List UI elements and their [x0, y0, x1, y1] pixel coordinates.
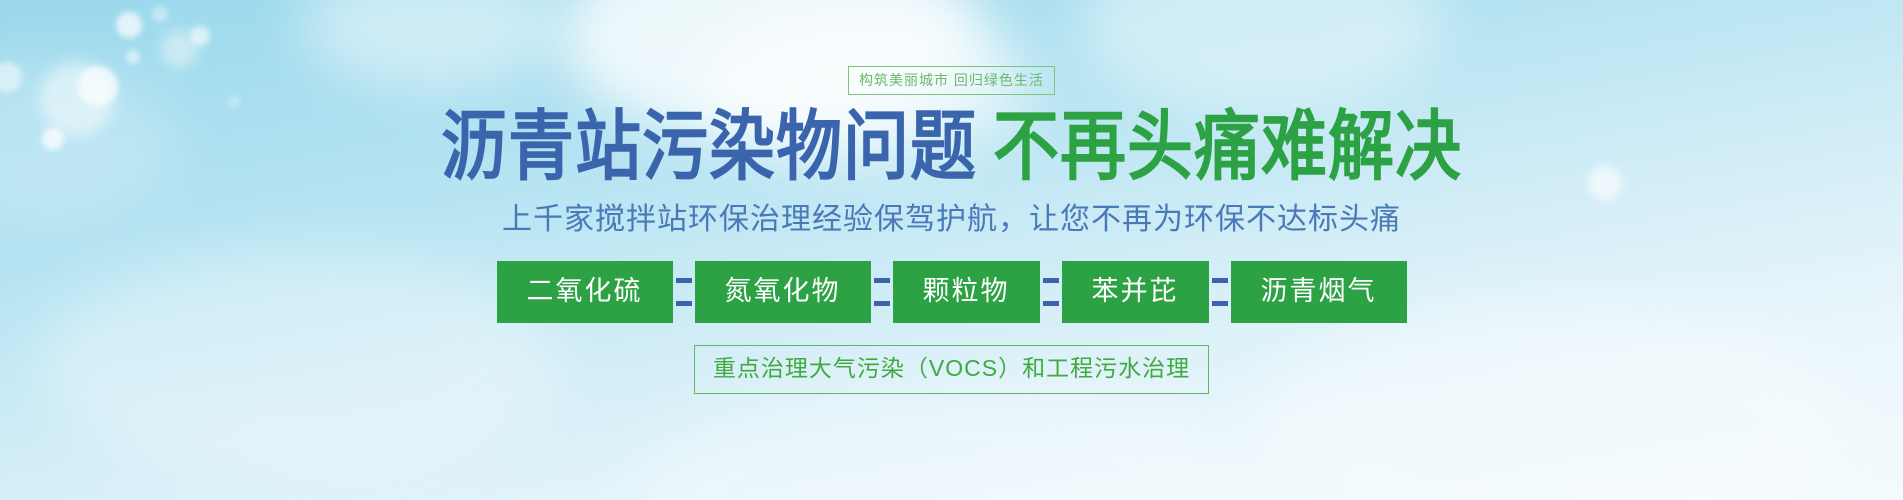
banner-content: 构筑美丽城市 回归绿色生活 沥青站污染物问题不再头痛难解决 上千家搅拌站环保治理…: [0, 0, 1903, 500]
dash-icon: [676, 301, 692, 306]
pollutant-tag[interactable]: 沥青烟气: [1231, 261, 1407, 323]
dash-icon: [874, 301, 890, 306]
headline-blue-part: 沥青站污染物问题: [441, 102, 977, 191]
dash-icon: [874, 278, 890, 283]
pollutant-tag-row: 二氧化硫 氮氧化物 颗粒物 苯并芘 沥青烟气: [497, 261, 1407, 323]
pollutant-tag[interactable]: 苯并芘: [1062, 261, 1209, 323]
dash-icon: [1212, 301, 1228, 306]
pollutant-tag[interactable]: 氮氧化物: [695, 261, 871, 323]
tag-separator: [1209, 261, 1231, 323]
dash-icon: [1043, 301, 1059, 306]
focus-note: 重点治理大气污染（VOCS）和工程污水治理: [694, 345, 1209, 394]
dash-icon: [1043, 278, 1059, 283]
promo-banner: 构筑美丽城市 回归绿色生活 沥青站污染物问题不再头痛难解决 上千家搅拌站环保治理…: [0, 0, 1903, 500]
pollutant-tag[interactable]: 颗粒物: [893, 261, 1040, 323]
subtitle: 上千家搅拌站环保治理经验保驾护航，让您不再为环保不达标头痛: [502, 205, 1401, 235]
dash-icon: [1212, 278, 1228, 283]
tag-separator: [673, 261, 695, 323]
headline: 沥青站污染物问题不再头痛难解决: [441, 109, 1462, 186]
tag-separator: [871, 261, 893, 323]
eyebrow-badge: 构筑美丽城市 回归绿色生活: [848, 66, 1055, 95]
tag-separator: [1040, 261, 1062, 323]
headline-green-part: 不再头痛难解决: [993, 102, 1462, 191]
pollutant-tag[interactable]: 二氧化硫: [497, 261, 673, 323]
dash-icon: [676, 278, 692, 283]
